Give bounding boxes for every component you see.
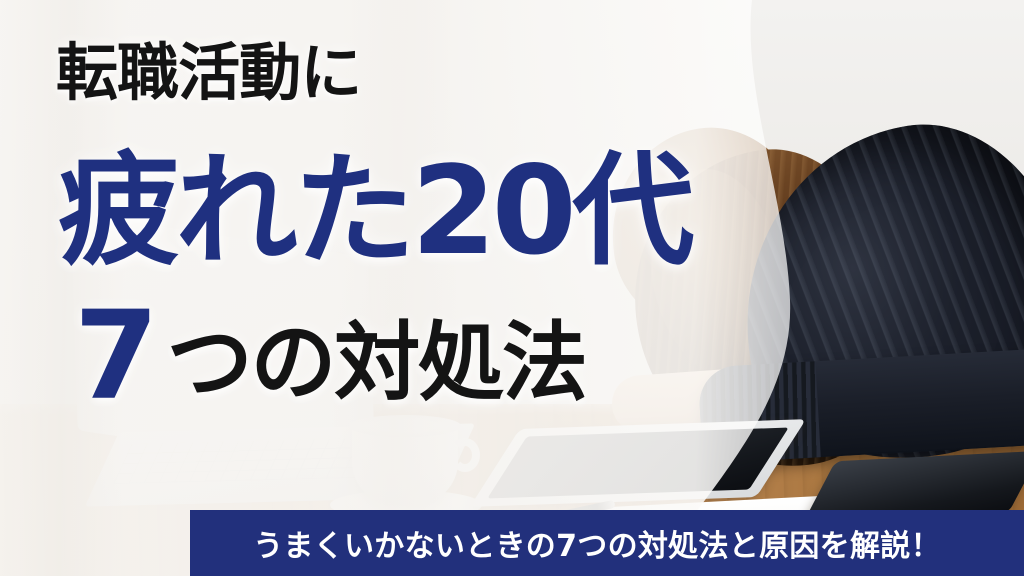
thumbnail-canvas: 転職活動に 疲れた20代 7 つの対処法 うまくいかないときの7つの対処法と原因… [0,0,1024,576]
bottom-banner: うまくいかないときの7つの対処法と原因を解説！ [190,510,1024,576]
bottom-banner-text: うまくいかないときの7つの対処法と原因を解説！ [253,521,941,565]
white-curved-overlay [0,0,1024,576]
